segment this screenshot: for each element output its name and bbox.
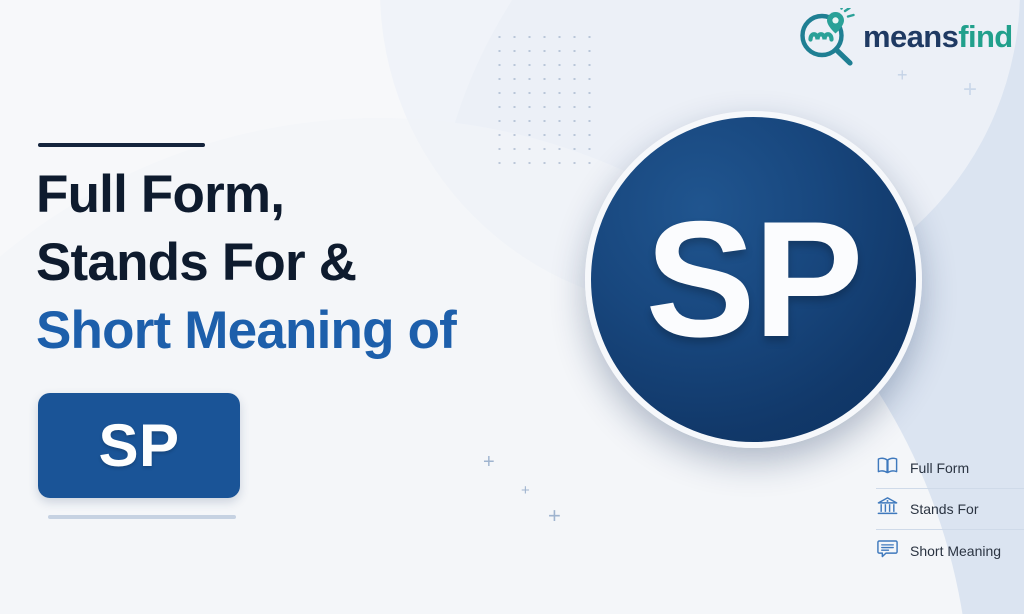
headline-line-3: Short Meaning of [36, 297, 506, 365]
list-item-label: Short Meaning [910, 543, 1001, 559]
plus-decoration-icon: + [897, 66, 908, 84]
promo-banner: + + + + + meansfind [0, 0, 1024, 614]
abbreviation-emblem-text: SP [645, 197, 861, 362]
abbreviation-badge: SP [38, 393, 240, 498]
headline-line-1: Full Form, [36, 161, 506, 229]
page-title: Full Form, Stands For & Short Meaning of [36, 161, 506, 364]
feature-list: Full Form Stands For [876, 448, 1024, 571]
brand-name: meansfind [863, 19, 1013, 55]
abbreviation-emblem: SP [585, 111, 922, 448]
abbreviation-badge-text: SP [98, 416, 179, 476]
list-item-label: Stands For [910, 501, 978, 517]
speech-bubble-lines-icon [876, 537, 899, 565]
plus-decoration-icon: + [548, 505, 561, 527]
list-item[interactable]: Stands For [876, 489, 1024, 530]
open-book-icon [876, 454, 899, 482]
magnifier-pin-logo-icon [795, 8, 859, 66]
bank-building-icon [876, 495, 899, 523]
badge-underline [48, 515, 236, 519]
brand-name-part-2: find [958, 19, 1012, 54]
brand-logo[interactable]: meansfind [795, 8, 1013, 66]
list-item[interactable]: Short Meaning [876, 530, 1024, 571]
headline-line-2: Stands For & [36, 229, 506, 297]
plus-decoration-icon: + [963, 78, 977, 102]
brand-name-part-1: means [863, 19, 958, 54]
list-item-label: Full Form [910, 460, 969, 476]
list-item[interactable]: Full Form [876, 448, 1024, 489]
plus-decoration-icon: + [521, 483, 530, 498]
plus-decoration-icon: + [483, 452, 495, 472]
divider-rule [38, 143, 205, 147]
background-dot-grid [492, 30, 598, 170]
